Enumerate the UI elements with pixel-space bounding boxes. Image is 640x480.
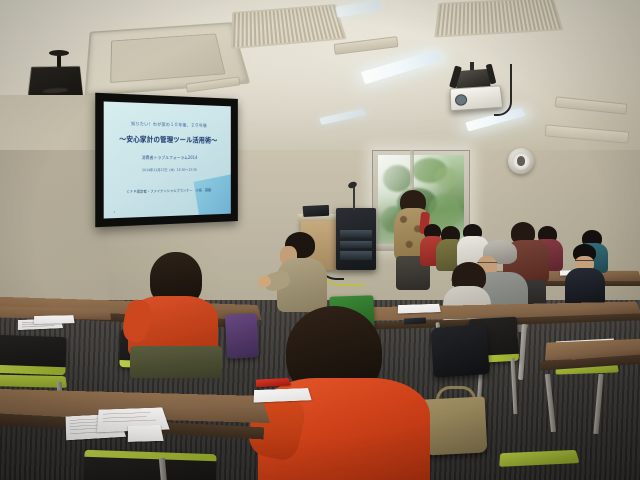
purple-bag [225,313,259,359]
microphone-stand [353,186,355,210]
laptop [303,205,330,217]
av-panel-1 [340,230,372,238]
seminar-room-photo: 知りたい！わが家の１０年後、２０年後 〜安心家計の管理ツール活用術〜 消費者トラ… [0,0,640,480]
attendee-orange-left-chairback [130,346,222,378]
tablet-on-desk [404,317,426,324]
slide-surface: 知りたい！わが家の１０年後、２０年後 〜安心家計の管理ツール活用術〜 消費者トラ… [104,101,231,219]
handbag [423,396,488,455]
slide-page-number: 1 [113,211,115,214]
attendee-khaki-hand [258,276,271,287]
slide-line-1: 知りたい！わが家の１０年後、２０年後 [131,121,207,129]
handout-middle-1 [398,304,441,314]
slide-line-2: 〜安心家計の管理ツール活用術〜 [119,133,217,144]
av-panel-2 [340,241,372,248]
av-equipment-rack [336,208,376,270]
av-panel-3 [340,251,372,260]
projector-lens [455,94,468,106]
glasses-icon [575,260,594,265]
speaker-ceiling-plate [49,50,69,56]
slide-line-4: 2014年11月27日（木）13:30〜15:30 [142,167,197,172]
handout-desk-phone-side [254,388,312,402]
slide-decoration [193,174,230,219]
wall-clock [508,148,534,174]
backpack [430,324,489,378]
chair-left-1 [0,335,67,375]
handout-front-3 [128,425,164,442]
chair-front-left [83,450,216,480]
slide-line-3: 消費者トラブルフォーラム2014 [142,155,198,161]
projector-cable [494,64,512,116]
projection-screen: 知りたい！わが家の１０年後、２０年後 〜安心家計の管理ツール活用術〜 消費者トラ… [95,93,238,228]
handout-left-2 [34,315,75,324]
